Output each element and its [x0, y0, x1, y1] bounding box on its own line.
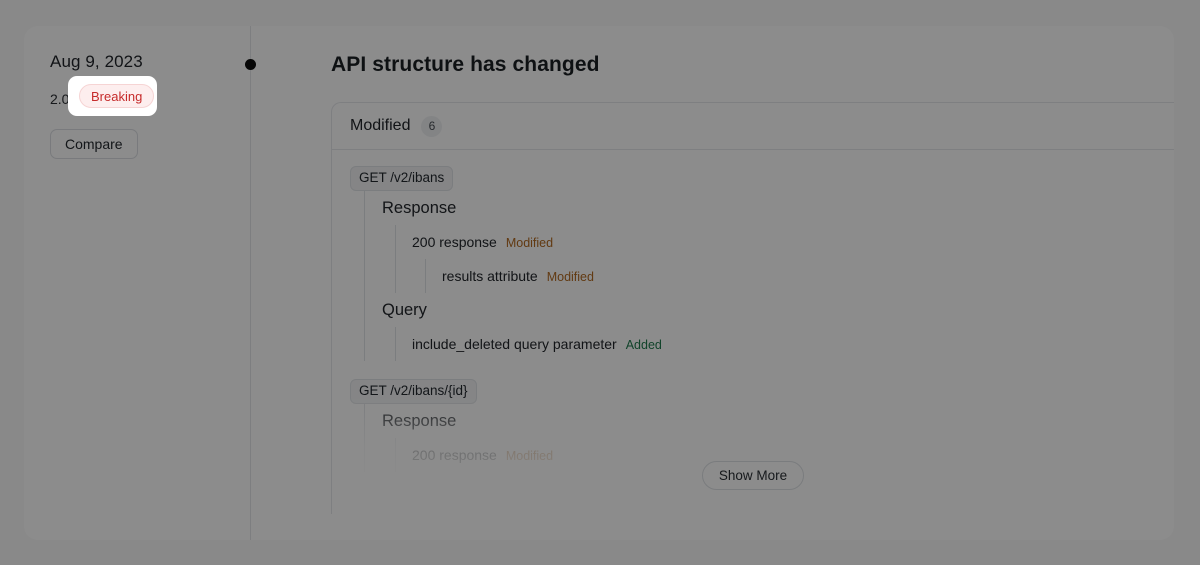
endpoint-tree: Response 200 response Modified results a…: [364, 191, 1174, 361]
page-title: API structure has changed: [331, 50, 1174, 80]
change-tag-modified: Modified: [547, 268, 594, 286]
diff-panel: Modified 6 GET /v2/ibans Response 200 re…: [331, 102, 1174, 514]
show-more-container: Show More: [332, 461, 1174, 490]
breaking-badge[interactable]: Breaking: [79, 84, 154, 108]
section-heading-response: Response: [382, 404, 1174, 438]
show-more-button[interactable]: Show More: [702, 461, 804, 490]
section-heading-query: Query: [382, 293, 1174, 327]
modified-count-badge: 6: [421, 116, 442, 137]
entry-version-number: 2.0: [50, 89, 69, 109]
entry-date: Aug 9, 2023: [50, 50, 250, 74]
diff-panel-header: Modified 6: [332, 103, 1174, 150]
endpoint-chip[interactable]: GET /v2/ibans: [350, 166, 453, 191]
section-tree: include_deleted query parameter Added: [395, 327, 1174, 361]
diff-panel-body: GET /v2/ibans Response 200 response Modi…: [332, 150, 1174, 472]
change-row[interactable]: include_deleted query parameter Added: [412, 327, 1174, 361]
changelog-entry-card: Aug 9, 2023 2.0 Breaking Compare API str…: [24, 26, 1174, 540]
change-row[interactable]: 200 response Modified: [412, 225, 1174, 259]
change-row[interactable]: results attribute Modified: [442, 259, 1174, 293]
change-label: include_deleted query parameter: [412, 334, 617, 354]
change-children-tree: results attribute Modified: [425, 259, 1174, 293]
endpoint-chip[interactable]: GET /v2/ibans/{id}: [350, 379, 477, 404]
endpoint-group: GET /v2/ibans Response 200 response Modi…: [350, 166, 1174, 361]
timeline-dot: [245, 59, 256, 70]
section-heading-response: Response: [382, 191, 1174, 225]
timeline-rail: [250, 26, 251, 540]
change-label: 200 response: [412, 232, 497, 252]
change-label: results attribute: [442, 266, 538, 286]
entry-body-column: API structure has changed Modified 6 GET…: [331, 26, 1174, 540]
diff-panel-title: Modified: [350, 115, 410, 137]
compare-button[interactable]: Compare: [50, 129, 138, 159]
section-tree: 200 response Modified results attribute …: [395, 225, 1174, 293]
change-tag-added: Added: [626, 336, 662, 354]
page-root: Aug 9, 2023 2.0 Breaking Compare API str…: [0, 0, 1200, 565]
endpoint-group: GET /v2/ibans/{id} Response 200 response…: [350, 379, 1174, 472]
change-tag-modified: Modified: [506, 234, 553, 252]
